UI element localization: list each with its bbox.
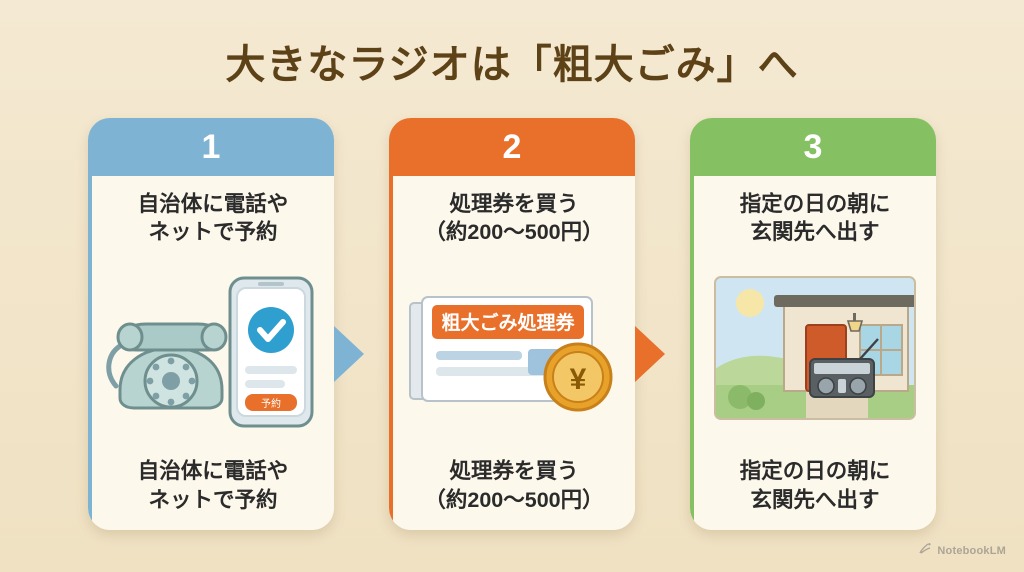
watermark: NotebookLM: [919, 542, 1006, 560]
steps-row: 1 自治体に電話や ネットで予約: [0, 118, 1024, 538]
step-card-1[interactable]: 1 自治体に電話や ネットで予約: [88, 118, 334, 530]
slide-canvas: 大きなラジオは「粗大ごみ」へ 1 自治体に電話や ネットで予約: [0, 0, 1024, 572]
rotary-telephone-icon: [109, 324, 226, 408]
yen-coin-icon: ¥: [545, 344, 611, 410]
step-title-2: 処理券を買う （約200〜500円）: [393, 176, 635, 247]
step-card-2[interactable]: 2 処理券を買う （約200〜500円） 粗大ごみ処理券: [389, 118, 635, 530]
step-title-3-line2: 玄関先へ出す: [704, 218, 926, 246]
step-caption-3-line1: 指定の日の朝に: [694, 457, 936, 485]
step-caption-2-line1: 処理券を買う: [393, 457, 635, 485]
step-caption-1: 自治体に電話や ネットで予約: [92, 457, 334, 514]
step-title-1: 自治体に電話や ネットで予約: [92, 176, 334, 247]
step-title-1-line1: 自治体に電話や: [102, 190, 324, 218]
coin-symbol: ¥: [570, 363, 587, 396]
notebooklm-logo-icon: [919, 542, 932, 560]
step-caption-1-line1: 自治体に電話や: [92, 457, 334, 485]
telephone-and-smartphone-illustration: 予約: [92, 268, 334, 428]
step-number-badge-1: 1: [88, 118, 334, 176]
disposal-ticket-and-coin-illustration: 粗大ごみ処理券 ¥: [393, 268, 635, 428]
step-card-body-2: 処理券を買う （約200〜500円） 粗大ごみ処理券: [389, 176, 635, 530]
step-title-2-line2: （約200〜500円）: [403, 218, 625, 246]
step-card-body-3: 指定の日の朝に 玄関先へ出す: [690, 176, 936, 530]
step-caption-3-line2: 玄関先へ出す: [694, 486, 936, 514]
step-caption-2: 処理券を買う （約200〜500円）: [393, 457, 635, 514]
arrow-step2-to-step3: [635, 326, 669, 382]
house-entrance-with-radio-illustration: [694, 268, 936, 428]
watermark-label: NotebookLM: [937, 545, 1006, 557]
page-title: 大きなラジオは「粗大ごみ」へ: [0, 32, 1024, 90]
arrow-step1-to-step2: [334, 326, 368, 382]
step-caption-2-line2: （約200〜500円）: [393, 486, 635, 514]
step-title-1-line2: ネットで予約: [102, 218, 324, 246]
step-caption-3: 指定の日の朝に 玄関先へ出す: [694, 457, 936, 514]
step-title-3-line1: 指定の日の朝に: [704, 190, 926, 218]
step-caption-1-line2: ネットで予約: [92, 486, 334, 514]
smartphone-icon: 予約: [230, 278, 312, 426]
step-card-3[interactable]: 3 指定の日の朝に 玄関先へ出す: [690, 118, 936, 530]
step-title-2-line1: 処理券を買う: [403, 190, 625, 218]
step-card-body-1: 自治体に電話や ネットで予約: [88, 176, 334, 530]
step-number-badge-2: 2: [389, 118, 635, 176]
step-title-3: 指定の日の朝に 玄関先へ出す: [694, 176, 936, 247]
smartphone-reserve-button-label: 予約: [261, 397, 281, 410]
ticket-text: 粗大ごみ処理券: [441, 311, 575, 334]
step-number-badge-3: 3: [690, 118, 936, 176]
